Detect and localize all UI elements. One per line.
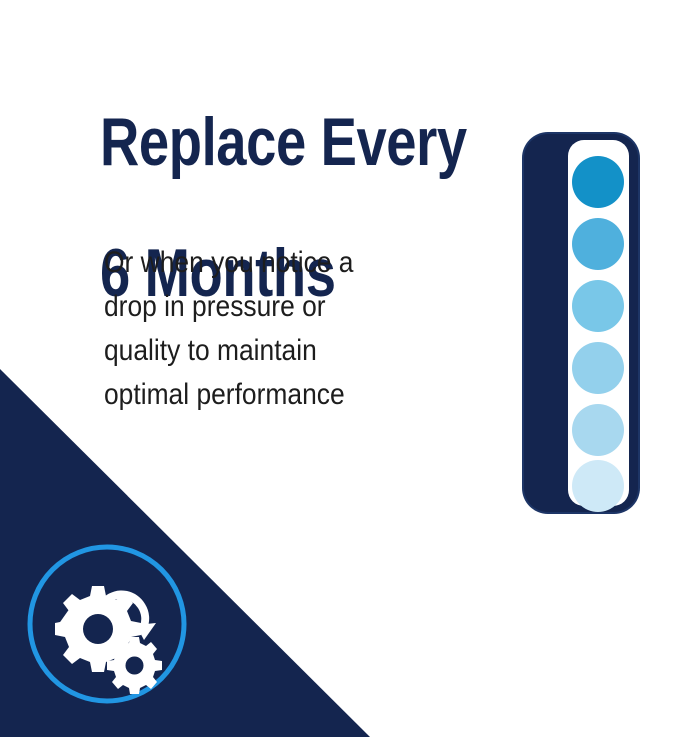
cartridge-dot-3 xyxy=(572,280,624,332)
small-gear-hub xyxy=(126,657,144,675)
cartridge-dot-6 xyxy=(572,460,624,512)
cartridge-dot-2 xyxy=(572,218,624,270)
gears-refresh-icon xyxy=(24,541,190,707)
cartridge-dot-5 xyxy=(572,404,624,456)
water-filter-cartridge xyxy=(519,128,643,518)
infographic-canvas: Replace Every 6 Months Or when you notic… xyxy=(0,0,679,737)
cartridge-dot-1 xyxy=(572,156,624,208)
subtitle-line-2: drop in pressure or xyxy=(104,285,403,329)
subtitle-line-4: optimal performance xyxy=(104,373,403,417)
subtitle-text: Or when you notice a drop in pressure or… xyxy=(104,241,403,417)
large-gear-hub xyxy=(83,614,113,644)
headline-line-1: Replace Every xyxy=(100,110,476,176)
small-gear xyxy=(107,637,162,694)
subtitle-line-3: quality to maintain xyxy=(104,329,403,373)
cartridge-dot-4 xyxy=(572,342,624,394)
gears-refresh-glyph xyxy=(55,586,162,694)
subtitle-line-1: Or when you notice a xyxy=(104,241,403,285)
